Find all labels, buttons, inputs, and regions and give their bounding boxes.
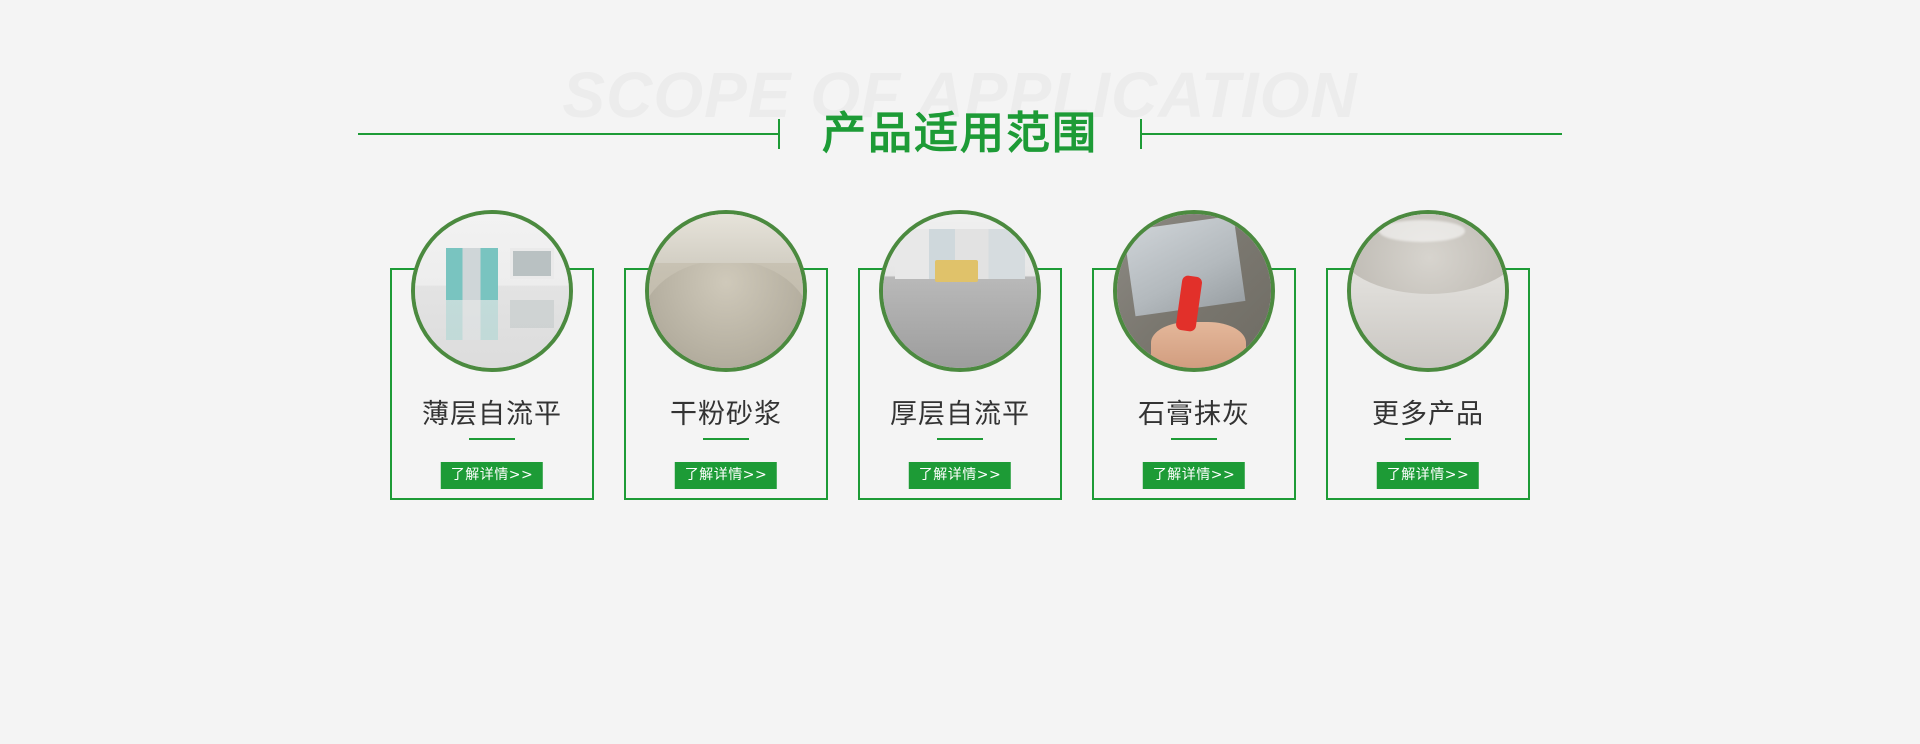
thin-layer-self-leveling-floor-photo — [415, 214, 569, 368]
window-reflection-shape — [510, 300, 553, 328]
title-rule-right — [1142, 133, 1562, 135]
card-underline — [1405, 438, 1451, 440]
learn-more-button[interactable]: 了解详情>> — [675, 462, 777, 489]
scope-of-application-section: SCOPE OF APPLICATION 产品适用范围 薄层自流平 了解详情>> — [0, 0, 1920, 744]
learn-more-button[interactable]: 了解详情>> — [909, 462, 1011, 489]
title-row: 产品适用范围 — [0, 106, 1920, 162]
card-underline — [469, 438, 515, 440]
application-card[interactable]: 薄层自流平 了解详情>> — [390, 210, 594, 510]
learn-more-button[interactable]: 了解详情>> — [441, 462, 543, 489]
application-card[interactable]: 厚层自流平 了解详情>> — [858, 210, 1062, 510]
application-card-list: 薄层自流平 了解详情>> 干粉砂浆 了解详情>> 厚层自流平 了解详情>> — [390, 210, 1530, 510]
card-image-circle — [645, 210, 807, 372]
card-underline — [1171, 438, 1217, 440]
application-card[interactable]: 更多产品 了解详情>> — [1326, 210, 1530, 510]
dry-powder-mortar-pile-photo — [649, 214, 803, 368]
gypsum-plaster-trowel-photo — [1117, 214, 1271, 368]
section-header: SCOPE OF APPLICATION 产品适用范围 — [0, 0, 1920, 200]
card-image-circle — [879, 210, 1041, 372]
learn-more-button[interactable]: 了解详情>> — [1143, 462, 1245, 489]
card-image-circle — [411, 210, 573, 372]
window-shape — [510, 248, 553, 279]
card-image-circle — [1113, 210, 1275, 372]
card-label: 干粉砂浆 — [624, 392, 828, 431]
card-underline — [937, 438, 983, 440]
hand-shape — [1151, 322, 1246, 372]
card-underline — [703, 438, 749, 440]
card-label: 更多产品 — [1326, 392, 1530, 431]
card-image-circle — [1347, 210, 1509, 372]
application-card[interactable]: 石膏抹灰 了解详情>> — [1092, 210, 1296, 510]
more-products-surface-photo — [1351, 214, 1505, 368]
title-rule-left — [358, 133, 778, 135]
card-label: 石膏抹灰 — [1092, 392, 1296, 431]
application-card[interactable]: 干粉砂浆 了解详情>> — [624, 210, 828, 510]
card-label: 厚层自流平 — [858, 392, 1062, 431]
learn-more-button[interactable]: 了解详情>> — [1377, 462, 1479, 489]
page-title: 产品适用范围 — [780, 106, 1140, 162]
card-label: 薄层自流平 — [390, 392, 594, 431]
thick-layer-self-leveling-warehouse-photo — [883, 214, 1037, 368]
